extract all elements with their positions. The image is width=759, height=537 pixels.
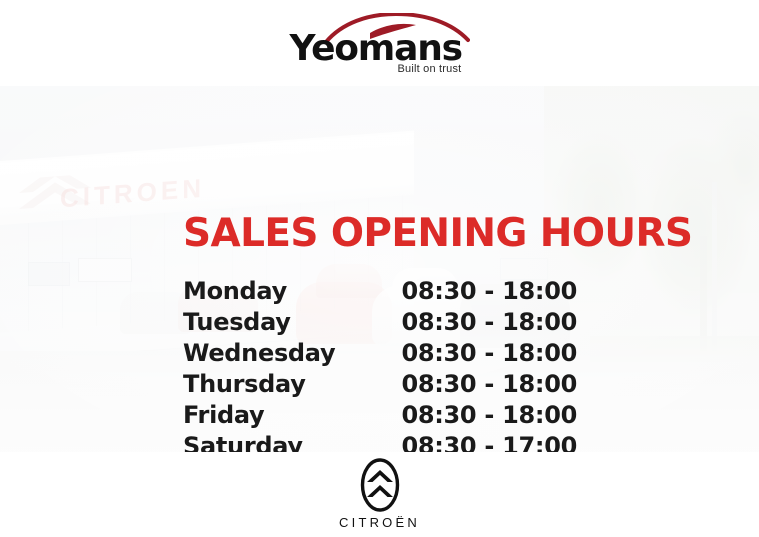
table-row: Saturday 08:30 - 17:00 xyxy=(183,433,577,452)
opening-hours-table: Monday 08:30 - 18:00 Tuesday 08:30 - 18:… xyxy=(183,278,577,452)
citroen-wordmark: CITROËN xyxy=(339,515,420,530)
yeomans-logo: Yeomans Built on trust xyxy=(290,13,470,77)
brand-tagline: Built on trust xyxy=(398,64,462,75)
hours-value: 08:30 - 17:00 xyxy=(401,433,577,452)
footer-band: CITROËN xyxy=(0,452,759,537)
table-row: Monday 08:30 - 18:00 xyxy=(183,278,577,309)
brand-name: Yeomans xyxy=(290,31,462,67)
day-label: Friday xyxy=(183,402,264,429)
hours-value: 08:30 - 18:00 xyxy=(401,402,577,429)
day-label: Saturday xyxy=(183,433,303,452)
day-label: Thursday xyxy=(183,371,306,398)
background-photo: CITROEN SALES OPENING HOURS Monday 08:30… xyxy=(0,86,759,452)
day-label: Wednesday xyxy=(183,340,335,367)
hours-value: 08:30 - 18:00 xyxy=(401,340,577,367)
page-title: SALES OPENING HOURS xyxy=(183,214,692,253)
day-label: Tuesday xyxy=(183,309,291,336)
day-label: Monday xyxy=(183,278,287,305)
table-row: Thursday 08:30 - 18:00 xyxy=(183,371,577,402)
citroen-double-chevron-oval-icon xyxy=(360,458,400,512)
hours-value: 08:30 - 18:00 xyxy=(401,278,577,305)
poster-content: SALES OPENING HOURS Monday 08:30 - 18:00… xyxy=(0,86,759,452)
opening-hours-poster: Yeomans Built on trust CITROEN xyxy=(0,0,759,537)
header-band: Yeomans Built on trust xyxy=(0,0,759,86)
table-row: Wednesday 08:30 - 18:00 xyxy=(183,340,577,371)
table-row: Friday 08:30 - 18:00 xyxy=(183,402,577,433)
table-row: Tuesday 08:30 - 18:00 xyxy=(183,309,577,340)
citroen-logo: CITROËN xyxy=(339,458,420,530)
hours-value: 08:30 - 18:00 xyxy=(401,309,577,336)
hours-value: 08:30 - 18:00 xyxy=(401,371,577,398)
